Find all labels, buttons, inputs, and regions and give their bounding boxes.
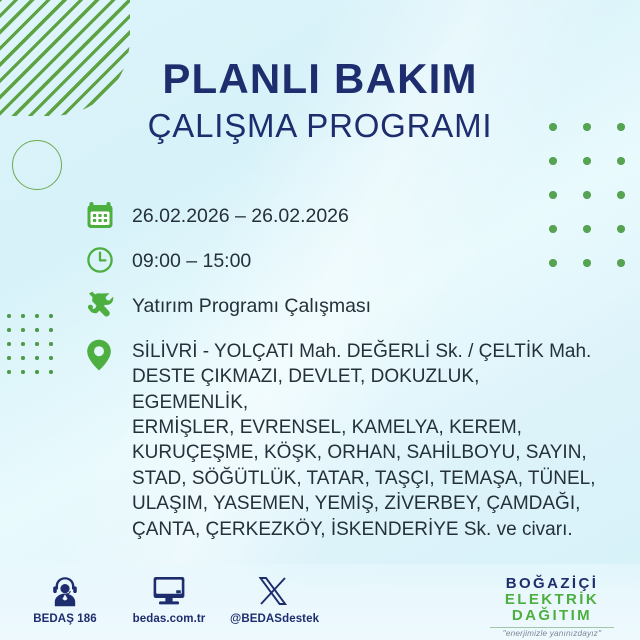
contact-x-label: @BEDASdestek [230,613,316,625]
x-twitter-icon [230,572,316,610]
time-range-text: 09:00 – 15:00 [132,245,251,274]
contact-website-link[interactable]: bedas.com.tr [126,572,212,625]
footer-contact-links: BEDAŞ 186 bedas.com.tr [22,572,316,625]
location-text: SİLİVRİ - YOLÇATI Mah. DEĞERLİ Sk. / ÇEL… [132,335,596,542]
location-line: STAD, SÖĞÜTLÜK, TATAR, TAŞÇI, TEMAŞA, TÜ… [132,468,595,489]
poster-footer: BEDAŞ 186 bedas.com.tr [0,564,640,640]
contact-website-label: bedas.com.tr [126,613,212,625]
maintenance-info-block: 26.02.2026 – 26.02.2026 09:00 – 15:00 [86,200,596,542]
location-line: ERMİŞLER, EVRENSEL, KAMELYA, KEREM, [132,417,522,438]
location-line: ULAŞIM, YASEMEN, YEMİŞ, ZİVERBEY, ÇAMDAĞ… [132,493,580,514]
poster-header: PLANLI BAKIM ÇALIŞMA PROGRAMI [0,58,640,145]
monitor-website-icon [126,572,212,610]
location-pin-icon [86,335,132,371]
location-line: ÇANTA, ÇERKEZKÖY, İSKENDERİYE Sk. ve civ… [132,519,573,540]
clock-icon [86,245,132,274]
headset-support-icon [22,572,108,610]
contact-x-link[interactable]: @BEDASdestek [230,572,316,625]
info-row-location: SİLİVRİ - YOLÇATI Mah. DEĞERLİ Sk. / ÇEL… [86,335,596,542]
work-type-text: Yatırım Programı Çalışması [132,290,371,319]
page-title: PLANLI BAKIM [0,58,640,101]
contact-phone-label: BEDAŞ 186 [22,613,108,625]
planned-maintenance-poster: PLANLI BAKIM ÇALIŞMA PROGRAMI [0,0,640,640]
logo-line-bogazici: BOĞAZİÇİ [482,576,622,592]
date-range-text: 26.02.2026 – 26.02.2026 [132,200,349,229]
circle-outline-decoration [12,140,62,190]
tools-icon [86,290,132,319]
info-row-work-type: Yatırım Programı Çalışması [86,290,596,319]
location-line: KURUÇEŞME, KÖŞK, ORHAN, SAHİLBOYU, SAYIN… [132,442,587,463]
logo-line-elektrik: ELEKTRİK [482,592,622,608]
bedas-logo: BOĞAZİÇİ ELEKTRİK DAĞITIM "enerjimizle y… [482,576,622,638]
info-row-time: 09:00 – 15:00 [86,245,596,274]
calendar-icon [86,200,132,229]
logo-line-dagitim: DAĞITIM [482,608,622,624]
contact-phone-support[interactable]: BEDAŞ 186 [22,572,108,625]
location-line: DESTE ÇIKMAZI, DEVLET, DOKUZLUK, EGEMENL… [132,366,479,412]
location-line: SİLİVRİ - YOLÇATI Mah. DEĞERLİ Sk. / ÇEL… [132,341,591,362]
logo-tagline: "enerjimizle yanınızdayız" [482,629,622,638]
logo-divider [490,627,614,628]
page-subtitle: ÇALIŞMA PROGRAMI [0,107,640,145]
info-row-date: 26.02.2026 – 26.02.2026 [86,200,596,229]
dot-grid-left-decoration [7,314,63,384]
